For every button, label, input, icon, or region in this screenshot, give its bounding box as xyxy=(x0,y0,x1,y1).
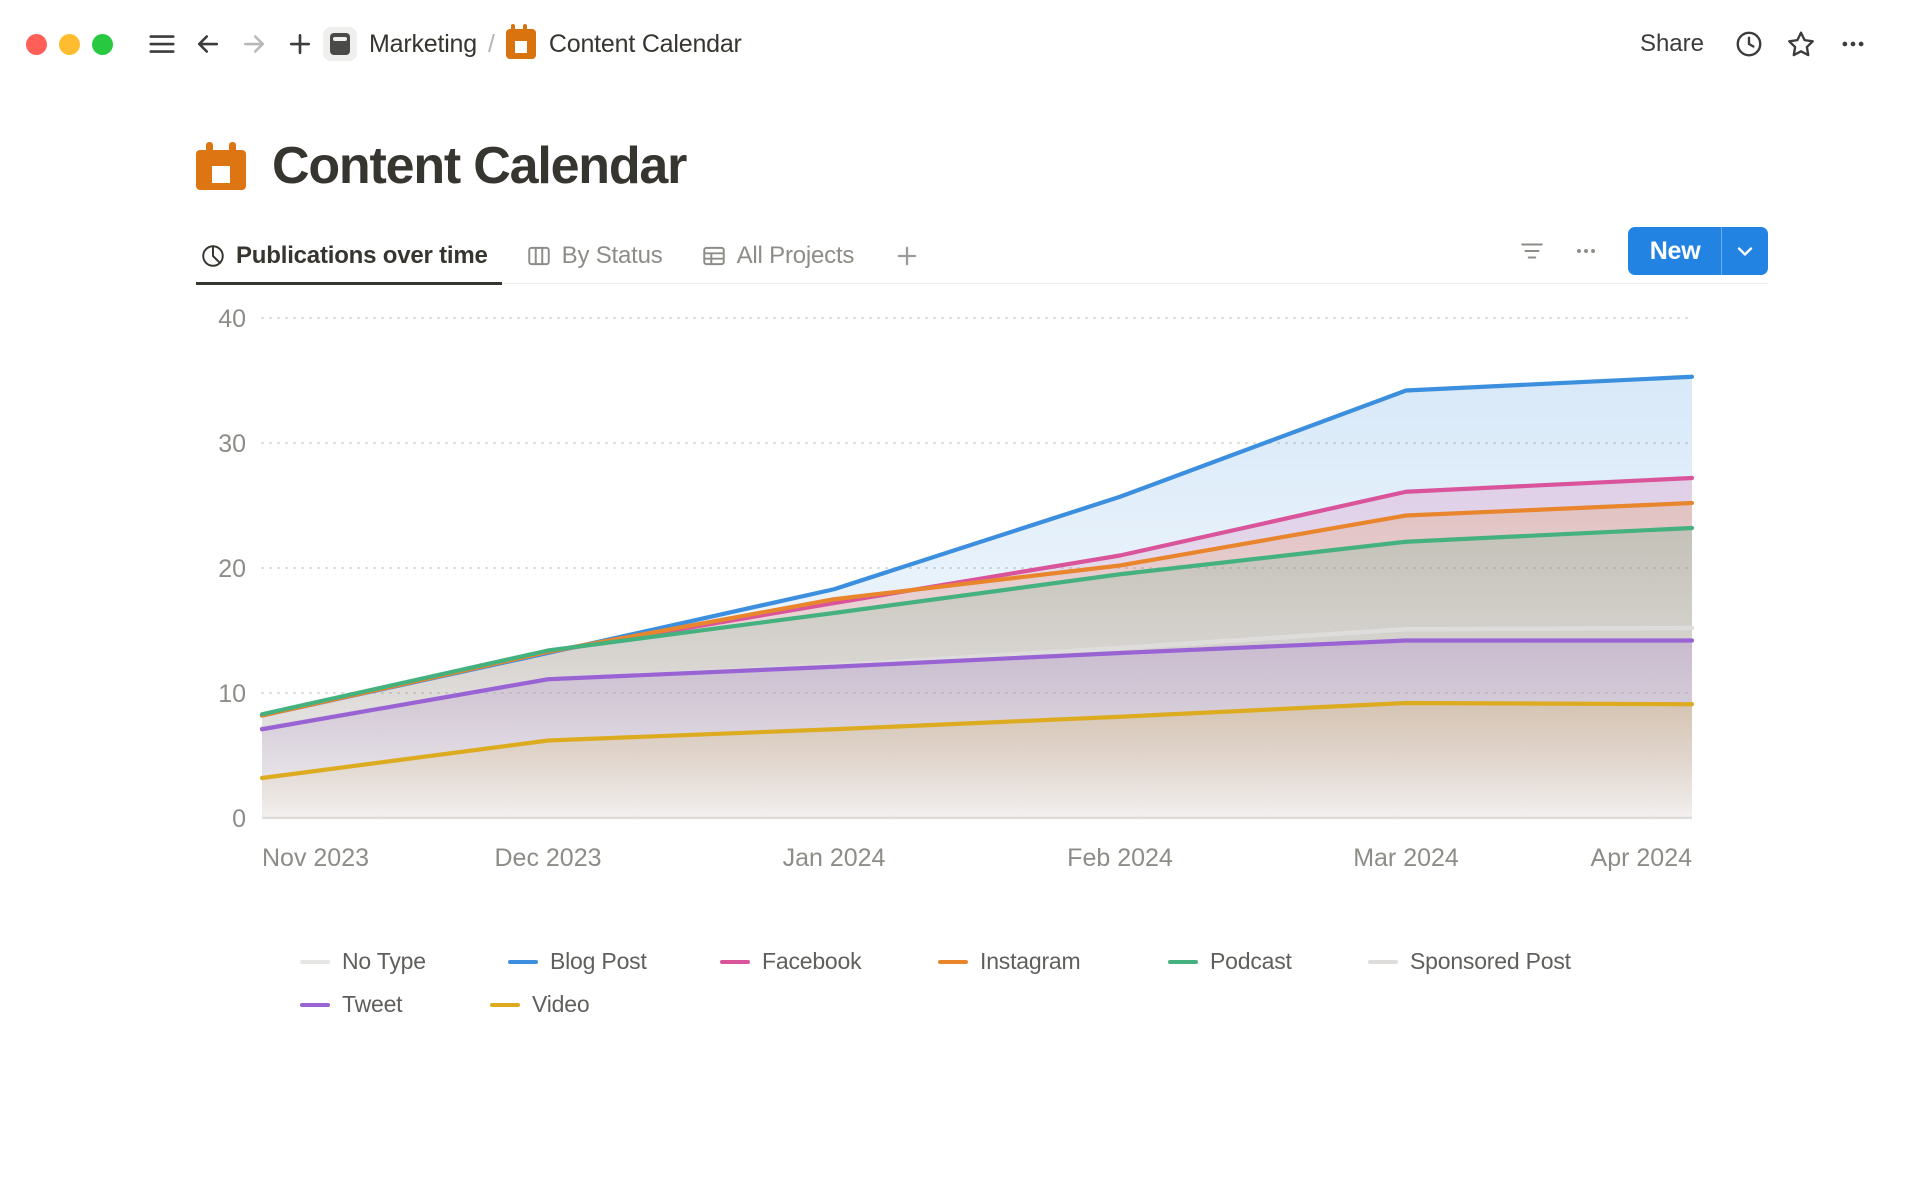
legend-swatch xyxy=(1168,960,1198,964)
tab-label: Publications over time xyxy=(236,242,488,270)
legend-item-tweet[interactable]: Tweet xyxy=(300,991,490,1018)
legend-swatch xyxy=(938,960,968,964)
filter-icon[interactable] xyxy=(1512,231,1552,271)
clock-icon[interactable] xyxy=(1726,21,1772,67)
view-tabs: Publications over time By Status All Pro… xyxy=(196,237,926,283)
legend-label: Video xyxy=(532,991,589,1018)
window-titlebar: Marketing / Content Calendar Share xyxy=(0,0,1920,88)
x-axis-tick-label: Dec 2023 xyxy=(494,844,601,872)
calendar-icon xyxy=(506,29,536,59)
legend-item-no-type[interactable]: No Type xyxy=(300,948,508,975)
chevron-down-icon[interactable] xyxy=(1722,227,1768,275)
tab-label: By Status xyxy=(562,242,663,270)
star-icon[interactable] xyxy=(1778,21,1824,67)
x-axis-tick-label: Jan 2024 xyxy=(783,844,886,872)
view-tabs-bar: Publications over time By Status All Pro… xyxy=(196,228,1768,284)
legend-swatch xyxy=(300,1003,330,1007)
y-axis-tick-label: 20 xyxy=(218,555,246,583)
arrow-right-icon[interactable] xyxy=(231,21,277,67)
legend-label: Instagram xyxy=(980,948,1080,975)
close-window-button[interactable] xyxy=(26,34,47,55)
x-axis-tick-label: Feb 2024 xyxy=(1067,844,1173,872)
legend-item-blog-post[interactable]: Blog Post xyxy=(508,948,720,975)
tab-all-projects[interactable]: All Projects xyxy=(697,242,869,283)
legend-swatch xyxy=(508,960,538,964)
y-axis-tick-label: 30 xyxy=(218,430,246,458)
y-axis-tick-label: 0 xyxy=(232,805,246,833)
breadcrumb-separator: / xyxy=(488,30,495,59)
arrow-left-icon[interactable] xyxy=(185,21,231,67)
new-button[interactable]: New xyxy=(1628,227,1721,275)
page-header: Content Calendar xyxy=(0,88,1920,192)
x-axis-tick-label: Nov 2023 xyxy=(262,844,369,872)
legend-label: Tweet xyxy=(342,991,402,1018)
chart-canvas: 010203040Nov 2023Dec 2023Jan 2024Feb 202… xyxy=(196,306,1736,926)
publications-area-chart: 010203040Nov 2023Dec 2023Jan 2024Feb 202… xyxy=(196,306,1736,926)
legend-label: Facebook xyxy=(762,948,861,975)
legend-label: Blog Post xyxy=(550,948,647,975)
legend-label: No Type xyxy=(342,948,426,975)
page-title[interactable]: Content Calendar xyxy=(272,140,686,192)
legend-swatch xyxy=(1368,960,1398,964)
legend-swatch xyxy=(490,1003,520,1007)
legend-item-video[interactable]: Video xyxy=(490,991,680,1018)
ellipsis-icon[interactable] xyxy=(1830,21,1876,67)
titlebar-actions: Share xyxy=(1624,21,1876,67)
tab-by-status[interactable]: By Status xyxy=(522,242,677,283)
x-axis-tick-label: Apr 2024 xyxy=(1591,844,1693,872)
pie-chart-icon xyxy=(200,243,226,269)
breadcrumb-current-label[interactable]: Content Calendar xyxy=(549,30,742,59)
page-calendar-icon[interactable] xyxy=(196,142,246,190)
breadcrumb-parent-label[interactable]: Marketing xyxy=(369,30,477,59)
legend-item-facebook[interactable]: Facebook xyxy=(720,948,938,975)
maximize-window-button[interactable] xyxy=(92,34,113,55)
plus-icon[interactable] xyxy=(277,21,323,67)
legend-swatch xyxy=(300,960,330,964)
board-columns-icon xyxy=(526,243,552,269)
tab-publications-over-time[interactable]: Publications over time xyxy=(196,242,502,283)
view-toolbar: New xyxy=(1512,227,1768,283)
legend-label: Podcast xyxy=(1210,948,1292,975)
legend-item-sponsored-post[interactable]: Sponsored Post xyxy=(1368,948,1580,975)
minimize-window-button[interactable] xyxy=(59,34,80,55)
y-axis-tick-label: 10 xyxy=(218,680,246,708)
legend-label: Sponsored Post xyxy=(1410,948,1571,975)
tab-label: All Projects xyxy=(737,242,855,270)
page-content: Content Calendar Publications over time … xyxy=(0,88,1920,1018)
window-traffic-lights xyxy=(26,34,113,55)
view-more-icon[interactable] xyxy=(1566,231,1606,271)
new-button-group[interactable]: New xyxy=(1628,227,1768,275)
table-grid-icon xyxy=(701,243,727,269)
y-axis-tick-label: 40 xyxy=(218,306,246,333)
legend-item-podcast[interactable]: Podcast xyxy=(1168,948,1368,975)
x-axis-tick-label: Mar 2024 xyxy=(1353,844,1459,872)
legend-item-instagram[interactable]: Instagram xyxy=(938,948,1168,975)
breadcrumb-parent-icon[interactable] xyxy=(323,27,357,61)
chart-legend: No TypeBlog PostFacebookInstagramPodcast… xyxy=(300,948,1600,1018)
share-button[interactable]: Share xyxy=(1624,24,1720,64)
legend-swatch xyxy=(720,960,750,964)
hamburger-menu-icon[interactable] xyxy=(139,21,185,67)
add-view-button[interactable] xyxy=(888,237,926,275)
